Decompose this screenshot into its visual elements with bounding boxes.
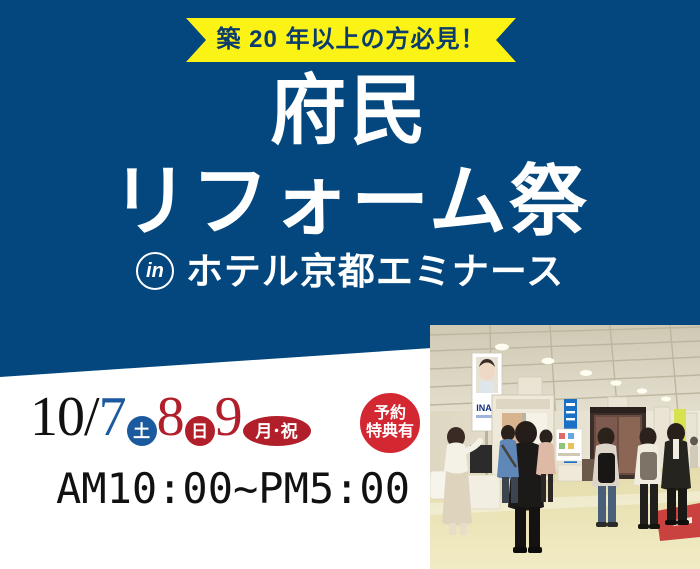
day-badge-monday-holiday: 月･祝 [243, 416, 311, 446]
product-panels [556, 429, 582, 461]
date-day-8: 8 [157, 389, 185, 445]
venue-line: in ホテル京都エミナース [0, 252, 700, 290]
event-date-row: 10/ 7 土 8 日 9 月･祝 [30, 386, 311, 448]
ribbon-banner: 築 20 年以上の方必見！ [186, 18, 516, 62]
event-banner: 築 20 年以上の方必見！ 府民 リフォーム祭 in ホテル京都エミナース 10… [0, 0, 700, 569]
title-line-secondary: リフォーム祭 [0, 162, 700, 240]
ribbon-label: 築 20 年以上の方必見！ [216, 28, 485, 52]
exhibition-hall-illustration: INAX [430, 325, 700, 569]
venue-photo: INAX [430, 325, 700, 569]
background-figures [690, 437, 698, 469]
date-day-9: 9 [215, 389, 243, 445]
day-badge-saturday: 土 [127, 416, 157, 446]
title-line-primary: 府民 [0, 74, 700, 150]
date-month-prefix: 10/ [30, 389, 99, 445]
event-time: AM10:00~PM5:00 [56, 468, 410, 510]
date-day-7: 7 [99, 389, 127, 445]
in-circle-icon: in [136, 252, 174, 290]
seal-line-2: 特典有 [366, 424, 414, 441]
seal-line-1: 予約 [374, 406, 406, 423]
title-block: 府民 リフォーム祭 [0, 74, 700, 240]
day-badge-sunday: 日 [185, 416, 215, 446]
venue-name: ホテル京都エミナース [186, 253, 564, 290]
reservation-benefit-seal: 予約 特典有 [358, 391, 422, 455]
